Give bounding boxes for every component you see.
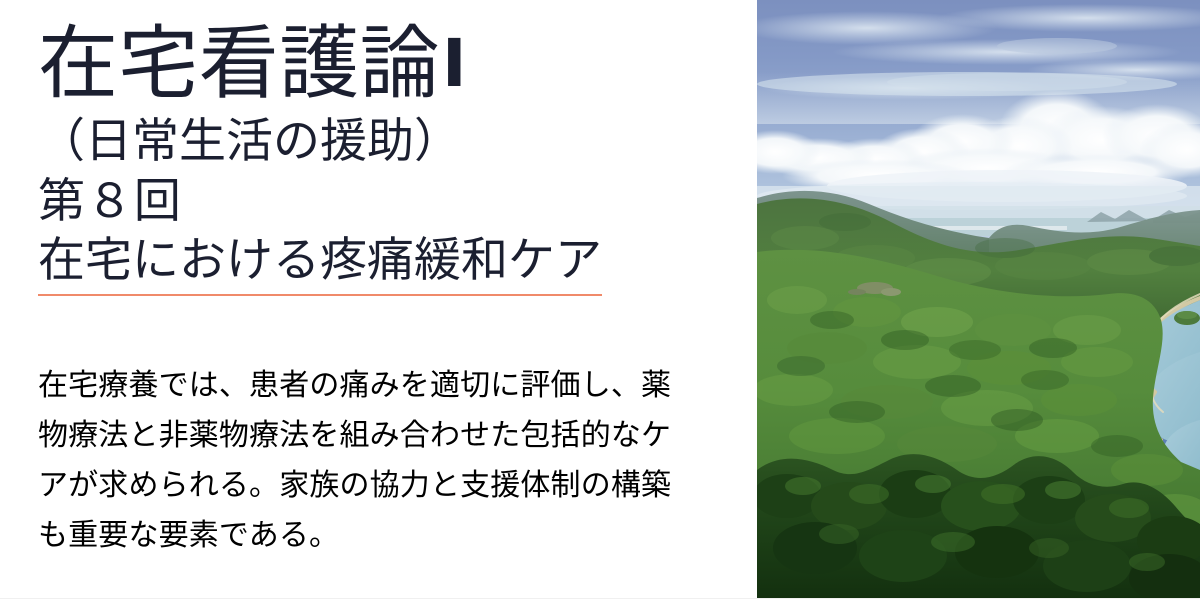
haze-streak	[757, 72, 1177, 96]
page-title: 在宅看護論Ⅰ	[38, 22, 738, 108]
subtitle-session-number: 第８回	[38, 174, 738, 231]
subtitle-topic: 在宅における疼痛緩和ケア	[38, 233, 602, 296]
landscape-photo	[757, 0, 1200, 599]
text-column: 在宅看護論Ⅰ （日常生活の援助） 第８回 在宅における疼痛緩和ケア 在宅療養では…	[0, 0, 757, 599]
water-island-highlight	[1177, 311, 1197, 319]
page-title-numeral: Ⅰ	[442, 26, 467, 100]
slide-root: 在宅看護論Ⅰ （日常生活の援助） 第８回 在宅における疼痛緩和ケア 在宅療養では…	[0, 0, 1200, 599]
page-title-text: 在宅看護論	[38, 21, 440, 109]
subtitle-topic-wrapper: 在宅における疼痛緩和ケア	[38, 231, 738, 296]
title-block: 在宅看護論Ⅰ （日常生活の援助） 第８回 在宅における疼痛緩和ケア	[38, 22, 738, 296]
body-paragraph: 在宅療養では、患者の痛みを適切に評価し、薬物療法と非薬物療法を組み合わせた包括的…	[38, 361, 686, 561]
subtitle-parenthetical: （日常生活の援助）	[38, 114, 738, 171]
